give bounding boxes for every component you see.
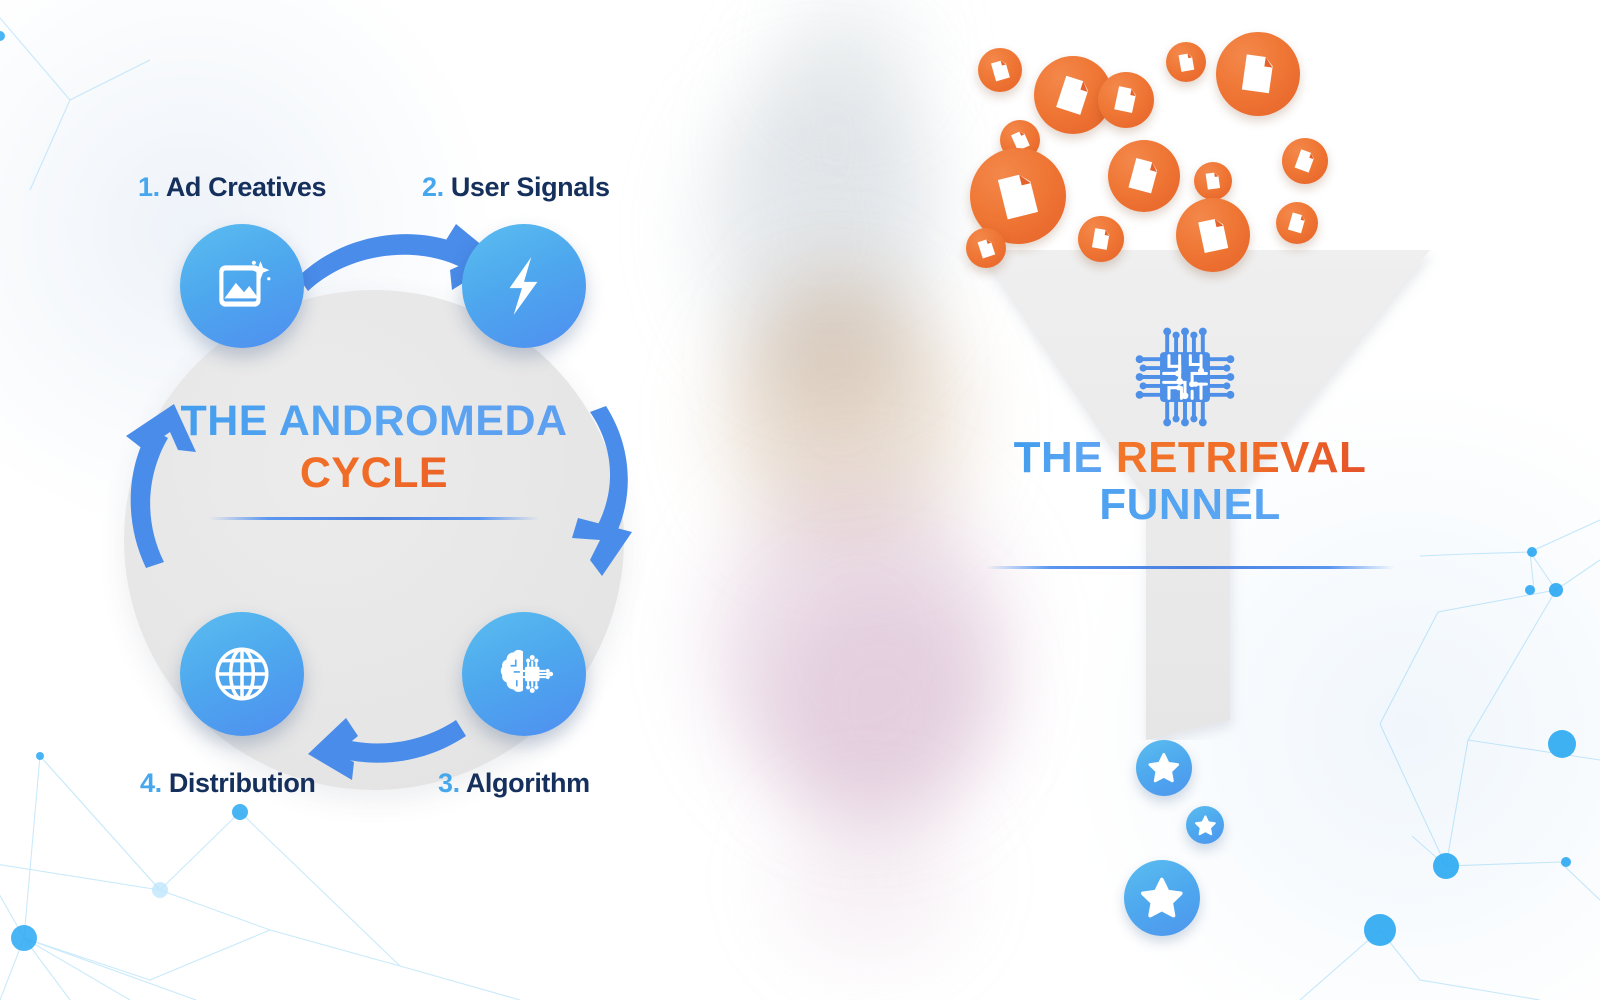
cycle-label-ad-creatives: 1. Ad Creatives (138, 172, 326, 203)
star-icon (1136, 740, 1192, 796)
cycle-node-algorithm[interactable] (462, 612, 586, 736)
document-icon (1078, 216, 1124, 262)
funnel-title-the: THE (1014, 433, 1116, 482)
cycle-label-number-3: 3. (438, 768, 460, 798)
star-icon (1124, 860, 1200, 936)
document-icon (1098, 72, 1154, 128)
infographic-canvas: 1. Ad Creatives 2. User Signals 3. Algor… (0, 0, 1600, 1000)
cycle-label-user-signals: 2. User Signals (422, 172, 610, 203)
document-icon (1108, 140, 1180, 212)
cycle-label-number-2: 2. (422, 172, 444, 202)
brain-circuit-icon (491, 641, 557, 707)
cycle-title-line1: THE ANDROMEDA (144, 400, 604, 443)
document-icon (966, 228, 1006, 268)
cycle-divider (209, 517, 539, 520)
cycle-label-text-1: Ad Creatives (166, 172, 326, 202)
document-icon (1194, 162, 1232, 200)
funnel-title-retrieval: RETRIEVAL (1116, 433, 1367, 482)
cycle-node-user-signals[interactable] (462, 224, 586, 348)
globe-icon (209, 641, 275, 707)
funnel-title-line2: FUNNEL (940, 482, 1440, 529)
funnel-divider (985, 566, 1395, 569)
cycle-label-distribution: 4. Distribution (140, 768, 316, 799)
document-icon (1166, 42, 1206, 82)
cycle-label-text-4: Distribution (169, 768, 316, 798)
document-icon (1282, 138, 1328, 184)
funnel-title-line1: THE RETRIEVAL (940, 435, 1440, 482)
lightning-bolt-icon (491, 253, 557, 319)
cycle-node-ad-creatives[interactable] (180, 224, 304, 348)
cycle-center-text: THE ANDROMEDA CYCLE (144, 400, 604, 520)
retrieval-funnel-diagram: THE RETRIEVAL FUNNEL (930, 20, 1450, 980)
cycle-label-algorithm: 3. Algorithm (438, 768, 590, 799)
cycle-label-number-1: 1. (138, 172, 160, 202)
cycle-label-text-2: User Signals (451, 172, 610, 202)
document-icon (978, 48, 1022, 92)
document-icon (1216, 32, 1300, 116)
image-sparkle-icon (209, 253, 275, 319)
circuit-chip-icon (1128, 320, 1242, 434)
cycle-title-line2: CYCLE (144, 452, 604, 495)
cycle-label-number-4: 4. (140, 768, 162, 798)
cycle-node-distribution[interactable] (180, 612, 304, 736)
funnel-title: THE RETRIEVAL FUNNEL (940, 435, 1440, 528)
star-icon (1186, 806, 1224, 844)
document-icon (1176, 198, 1250, 272)
cycle-label-text-3: Algorithm (466, 768, 590, 798)
document-icon (1276, 202, 1318, 244)
andromeda-cycle-diagram: 1. Ad Creatives 2. User Signals 3. Algor… (100, 150, 700, 850)
